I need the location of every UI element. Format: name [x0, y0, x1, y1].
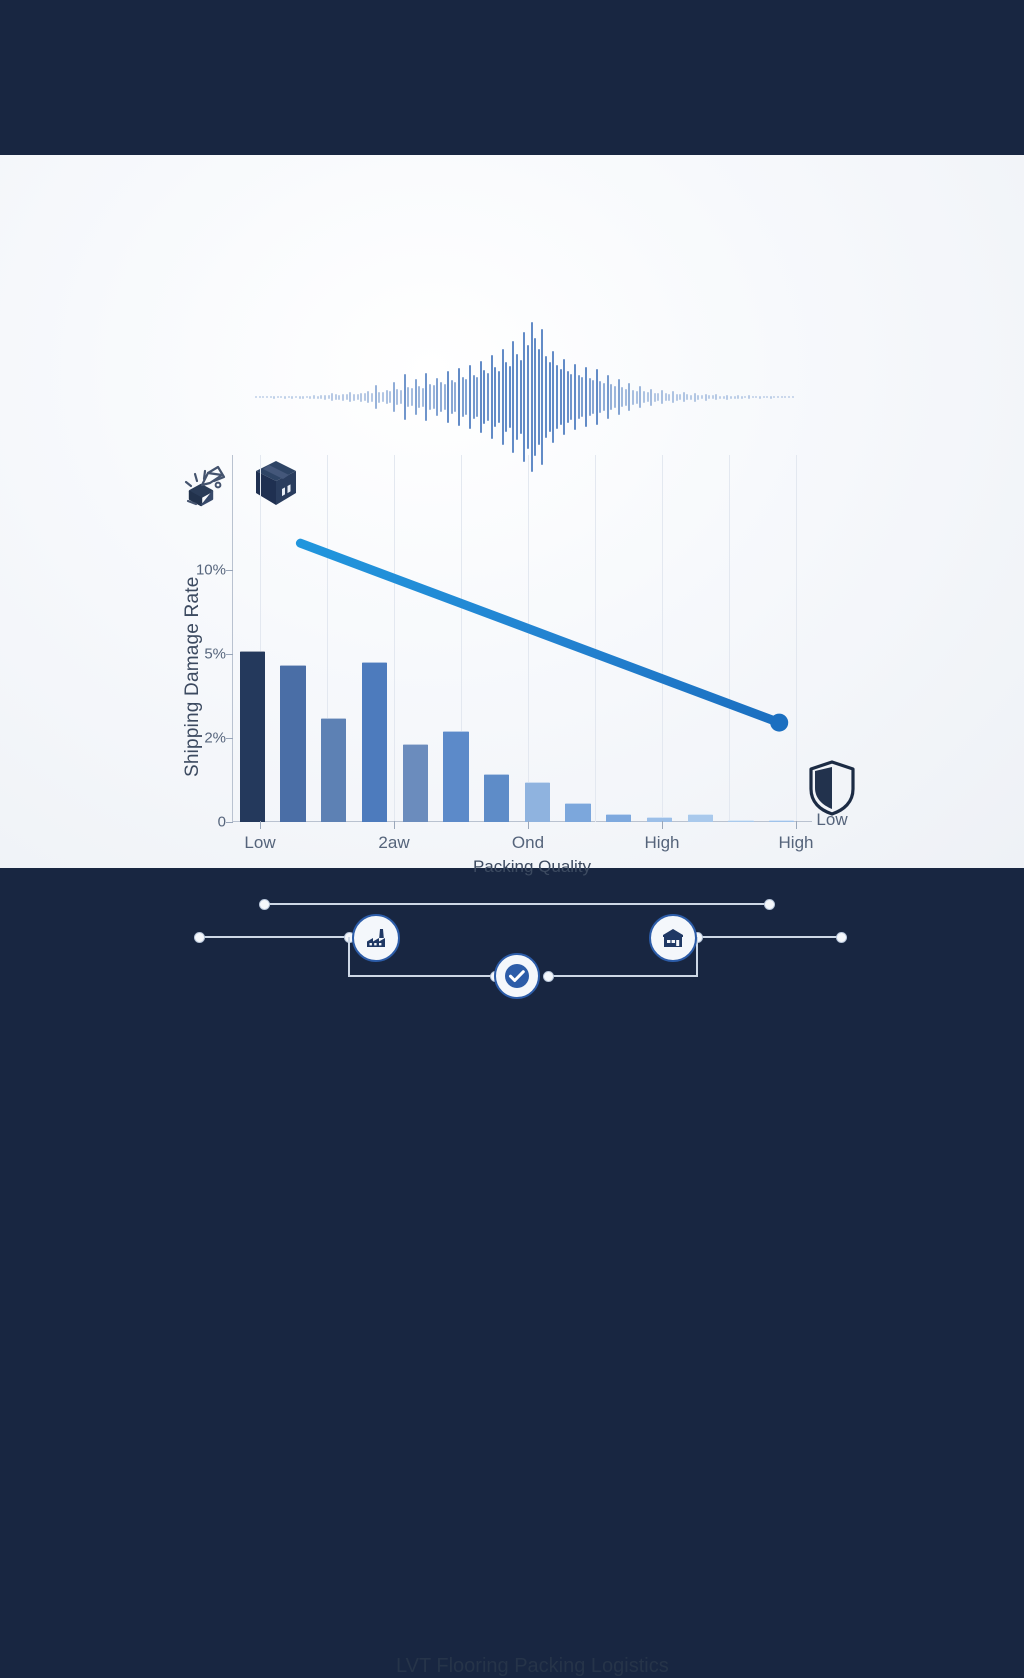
waveform-bar	[512, 341, 514, 453]
screenshot-root: Shipping Damage Rate 02%5%10% Low2awOndH…	[0, 0, 1024, 1024]
waveform-bar	[737, 395, 739, 399]
waveform-bar	[291, 396, 293, 399]
gridline	[528, 455, 529, 822]
x-axis-title-text: Packing Quality	[473, 857, 591, 876]
waveform-bar	[306, 396, 308, 398]
waveform-bar	[741, 396, 743, 399]
waveform-bar	[262, 396, 264, 398]
waveform-bar	[458, 368, 460, 426]
waveform-bar	[672, 391, 674, 403]
bar[interactable]	[443, 731, 468, 822]
x-axis-tick-label: Ond	[512, 833, 544, 853]
waveform-bar	[661, 390, 663, 404]
waveform-bar	[349, 392, 351, 402]
waveform-bar	[686, 394, 688, 400]
factory-icon	[352, 914, 400, 962]
waveform-bar	[748, 395, 750, 399]
waveform-bar	[766, 396, 768, 398]
waveform-bar	[317, 396, 319, 399]
y-axis-title: Shipping Damage Rate	[186, 335, 208, 555]
waveform-bar	[371, 393, 373, 402]
waveform-bar	[353, 394, 355, 401]
x-axis-tick-label: 2aw	[378, 833, 409, 853]
waveform-bar	[346, 394, 348, 400]
bar[interactable]	[484, 774, 509, 822]
waveform-bar	[690, 395, 692, 400]
waveform-bar	[560, 369, 562, 425]
waveform-bar	[284, 396, 286, 399]
waveform-bar	[462, 377, 464, 417]
waveform-bar	[266, 396, 268, 398]
waveform-bar	[614, 386, 616, 408]
y-axis-tick-mark	[226, 654, 233, 655]
waveform-bar	[563, 359, 565, 435]
waveform-bar	[487, 373, 489, 421]
y-axis-tick-mark	[226, 570, 233, 571]
waveform-bar	[701, 395, 703, 399]
waveform-bar	[628, 383, 630, 411]
waveform-bar	[531, 322, 533, 472]
waveform-bar	[335, 394, 337, 400]
waveform-bar	[545, 356, 547, 438]
footer-caption: LVT Flooring Packing Logistics	[396, 1655, 636, 1678]
waveform-bar	[541, 329, 543, 465]
waveform-bar	[639, 386, 641, 408]
waveform-bar	[755, 396, 757, 398]
footer-line-left-bottom	[348, 975, 498, 977]
warehouse-icon	[649, 914, 697, 962]
waveform-bar	[473, 375, 475, 419]
waveform-bar	[465, 379, 467, 415]
waveform-bar	[676, 394, 678, 401]
waveform-bar	[422, 388, 424, 407]
waveform-bar	[299, 396, 301, 399]
x-axis-title: Packing Quality	[0, 857, 1024, 877]
waveform-bar	[382, 392, 384, 402]
x-axis-tick-mark	[796, 821, 797, 829]
waveform-bar	[589, 378, 591, 416]
waveform-bar	[451, 380, 453, 414]
waveform-bar	[454, 382, 456, 412]
bar[interactable]	[362, 662, 387, 822]
y-axis-tick-label: 2%	[166, 730, 226, 747]
waveform-bar	[516, 354, 518, 440]
waveform-bar	[647, 392, 649, 402]
bar[interactable]	[565, 803, 590, 822]
waveform-bar	[378, 392, 380, 403]
waveform-bar	[730, 396, 732, 399]
waveform-bar	[255, 396, 257, 398]
check-shield-icon	[494, 953, 540, 999]
waveform-bar	[683, 392, 685, 402]
waveform-bar	[621, 387, 623, 407]
waveform-bar	[705, 394, 707, 401]
waveform-bar	[360, 393, 362, 402]
waveform-bar	[498, 371, 500, 423]
waveform-bar	[393, 382, 395, 412]
footer-line-left-down	[348, 937, 350, 976]
waveform-bar	[643, 391, 645, 403]
waveform-bar	[625, 389, 627, 406]
waveform-bar	[636, 391, 638, 404]
waveform-bar	[436, 378, 438, 416]
waveform-bar	[726, 395, 728, 400]
footer-line-right-bottom	[548, 975, 698, 977]
footer-line-top	[268, 903, 768, 905]
bar[interactable]	[280, 665, 305, 822]
x-axis-tick-label: Low	[244, 833, 275, 853]
waveform-bar	[592, 380, 594, 414]
waveform-bar	[375, 385, 377, 409]
waveform-bar	[483, 370, 485, 424]
waveform-bar	[320, 395, 322, 399]
footer-line-left	[203, 936, 348, 938]
waveform-bar	[603, 383, 605, 411]
waveform-bar	[697, 395, 699, 400]
waveform-bar	[302, 396, 304, 399]
waveform-bar	[585, 367, 587, 427]
waveform-bar	[425, 373, 427, 421]
y-axis-title-text: Shipping Damage Rate	[182, 577, 204, 777]
waveform-bar	[440, 382, 442, 412]
gridline	[394, 455, 395, 822]
waveform-bar	[389, 391, 391, 403]
waveform-bar	[386, 390, 388, 404]
waveform-bar	[599, 381, 601, 413]
waveform-bar	[578, 375, 580, 419]
waveform-bar	[534, 338, 536, 456]
waveform-bar	[400, 390, 402, 404]
footer-node-right-outer	[836, 932, 847, 943]
waveform-bar	[650, 389, 652, 406]
waveform-bar	[396, 389, 398, 405]
waveform-bar	[527, 345, 529, 449]
waveform-bar	[429, 384, 431, 410]
y-axis-tick-label: 0	[166, 814, 226, 831]
waveform-bar	[719, 396, 721, 399]
waveform-bar	[596, 369, 598, 425]
waveform-bar	[784, 396, 786, 398]
x-axis-tick-mark	[394, 821, 395, 829]
waveform-bar	[665, 393, 667, 401]
waveform-bar	[556, 365, 558, 429]
waveform-bar	[288, 396, 290, 398]
waveform-bar	[447, 371, 449, 423]
waveform-bar	[788, 396, 790, 398]
waveform-bar	[520, 360, 522, 434]
waveform-bar	[723, 396, 725, 399]
waveform-bar	[328, 395, 330, 399]
waveform-bar	[567, 371, 569, 423]
waveform-bar	[773, 396, 775, 398]
waveform-bar	[404, 374, 406, 420]
footer-node-top-right	[764, 899, 775, 910]
waveform-bar	[668, 394, 670, 401]
gridline	[796, 455, 797, 822]
waveform-bar	[781, 396, 783, 398]
plot-area	[232, 455, 802, 822]
waveform-bar	[570, 374, 572, 420]
waveform-bar	[411, 388, 413, 406]
x-axis-tick-mark	[260, 821, 261, 829]
waveform-bar	[734, 396, 736, 399]
y-axis-tick-mark	[226, 738, 233, 739]
gridline	[729, 455, 730, 822]
waveform-bar	[763, 396, 765, 398]
waveform-bar	[280, 396, 282, 398]
waveform-bar	[338, 395, 340, 400]
footer-node-left-outer	[194, 932, 205, 943]
x-axis-ticks: Low2awOndHighHigh	[232, 821, 812, 861]
waveform-bar	[712, 395, 714, 399]
shield-icon	[806, 759, 858, 843]
waveform-bar	[433, 385, 435, 409]
waveform-bar	[777, 396, 779, 398]
y-axis-tick-label: 5%	[166, 646, 226, 663]
waveform-bar	[480, 361, 482, 433]
waveform-bar	[273, 396, 275, 399]
waveform-bar	[313, 395, 315, 399]
waveform-bar	[364, 393, 366, 401]
top-banner-band	[0, 0, 1024, 155]
waveform-bar	[476, 377, 478, 417]
waveform-bar	[679, 394, 681, 400]
footer-diagram: LVT Flooring Packing Logistics	[0, 890, 1024, 1000]
waveform-bar	[407, 387, 409, 407]
waveform-bar	[309, 396, 311, 399]
waveform-bar	[491, 355, 493, 439]
waveform-bar	[357, 394, 359, 400]
waveform-bar	[792, 396, 794, 398]
waveform-bar	[494, 367, 496, 427]
waveform-bar	[367, 391, 369, 403]
waveform-bar	[295, 396, 297, 398]
waveform-bar	[607, 375, 609, 419]
shield-annotation-label: Low	[800, 810, 864, 830]
gridline	[595, 455, 596, 822]
waveform-bar	[657, 393, 659, 401]
waveform-bar	[418, 386, 420, 408]
x-axis-tick-mark	[528, 821, 529, 829]
waveform-bar	[744, 396, 746, 398]
waveform-bar	[270, 396, 272, 398]
waveform-bar	[444, 384, 446, 410]
waveform-bar	[770, 396, 772, 399]
waveform-bar	[574, 364, 576, 430]
waveform-bar	[277, 396, 279, 398]
bar[interactable]	[240, 651, 265, 822]
bar[interactable]	[321, 718, 346, 822]
audio-waveform-decoration	[255, 333, 795, 461]
x-axis-tick-mark	[662, 821, 663, 829]
x-axis-tick-label: High	[645, 833, 680, 853]
footer-node-bottom-right	[543, 971, 554, 982]
waveform-bar	[552, 351, 554, 443]
gridline	[662, 455, 663, 822]
waveform-bar	[509, 366, 511, 428]
waveform-bar	[523, 332, 525, 462]
waveform-bar	[581, 377, 583, 417]
waveform-bar	[715, 394, 717, 400]
waveform-bar	[752, 396, 754, 398]
waveform-bar	[632, 390, 634, 405]
waveform-bar	[469, 365, 471, 429]
bar[interactable]	[403, 744, 428, 822]
waveform-bar	[331, 393, 333, 401]
waveform-bar	[618, 379, 620, 415]
footer-line-right	[700, 936, 840, 938]
waveform-bar	[759, 396, 761, 399]
waveform-bar	[654, 393, 656, 402]
waveform-bar	[708, 395, 710, 399]
waveform-bar	[694, 393, 696, 402]
waveform-bar	[259, 396, 261, 398]
footer-node-top-left	[259, 899, 270, 910]
waveform-bar	[505, 362, 507, 432]
waveform-bar	[415, 379, 417, 415]
waveform-bar	[324, 395, 326, 400]
waveform-bar	[342, 394, 344, 401]
bar[interactable]	[525, 782, 550, 822]
waveform-bar	[549, 362, 551, 432]
waveform-bar	[610, 384, 612, 410]
y-axis-tick-label: 10%	[166, 562, 226, 579]
chart-canvas: Shipping Damage Rate 02%5%10% Low2awOndH…	[0, 155, 1024, 868]
waveform-bar	[502, 349, 504, 445]
waveform-bar	[538, 349, 540, 445]
